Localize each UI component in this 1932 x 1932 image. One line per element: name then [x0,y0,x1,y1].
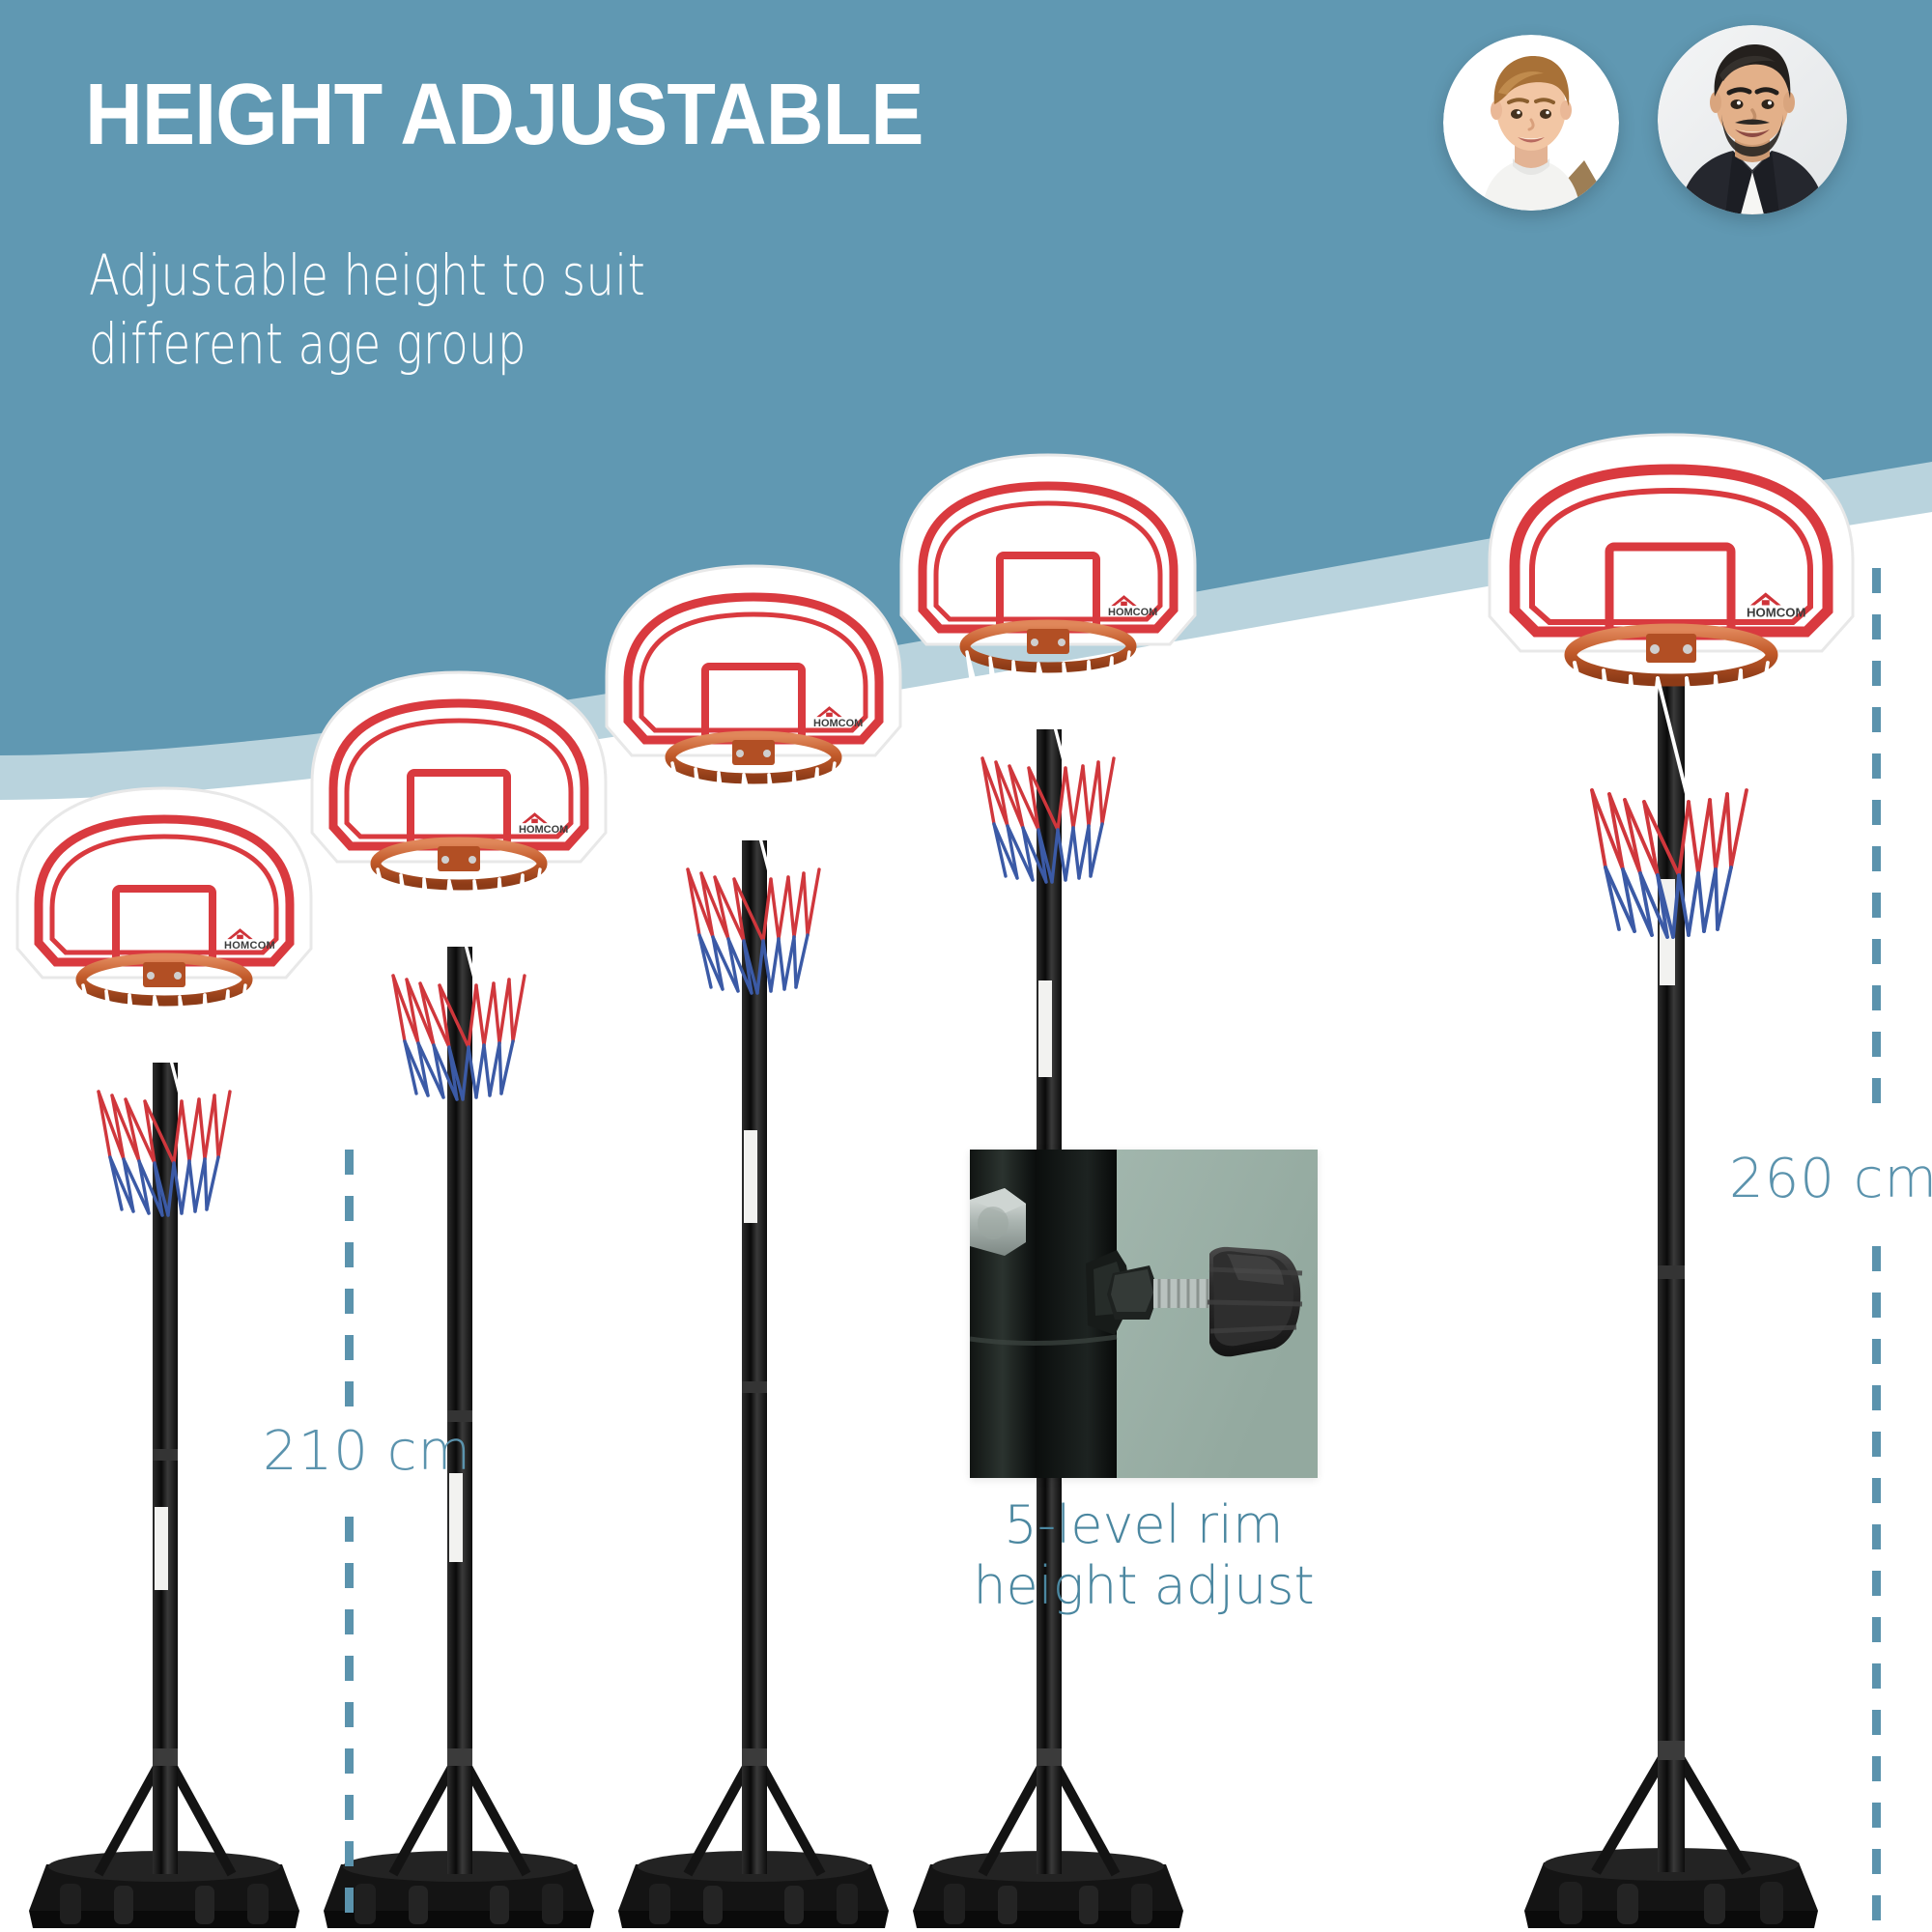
inset-caption: 5-level rim height adjust [970,1495,1318,1616]
hoop-unit-1: HOMCOM [10,773,319,1932]
measure-line-260-lower [1872,1246,1881,1922]
man-avatar [1658,25,1847,214]
svg-text:HOMCOM: HOMCOM [1747,605,1806,619]
svg-text:HOMCOM: HOMCOM [519,824,568,836]
measure-line-210-lower [345,1517,354,1922]
backboard-unit-5: HOMCOM [1490,435,1853,651]
svg-text:HOMCOM: HOMCOM [1108,607,1157,618]
backboard-unit-2: HOMCOM [312,672,606,862]
page-subtitle: Adjustable height to suit different age … [89,241,645,379]
knob-closeup-photo [970,1150,1318,1478]
svg-text:HOMCOM: HOMCOM [224,940,275,952]
backboard-unit-3: HOMCOM [607,566,900,755]
measure-label-260: 260 cm [1729,1148,1932,1210]
hex-bolt-icon [970,1188,1026,1256]
page-title: HEIGHT ADJUSTABLE [85,71,923,158]
infographic-canvas: HEIGHT ADJUSTABLE Adjustable height to s… [0,0,1932,1932]
backboard-unit-1: HOMCOM [17,788,311,978]
measure-line-260-upper [1872,568,1881,1109]
boy-avatar [1443,35,1619,211]
backboard-unit-4: HOMCOM [901,455,1195,644]
measure-label-210: 210 cm [263,1420,471,1483]
svg-text:HOMCOM: HOMCOM [813,718,863,729]
measure-line-210-upper [345,1150,354,1410]
hoop-unit-3: HOMCOM [599,551,908,1932]
